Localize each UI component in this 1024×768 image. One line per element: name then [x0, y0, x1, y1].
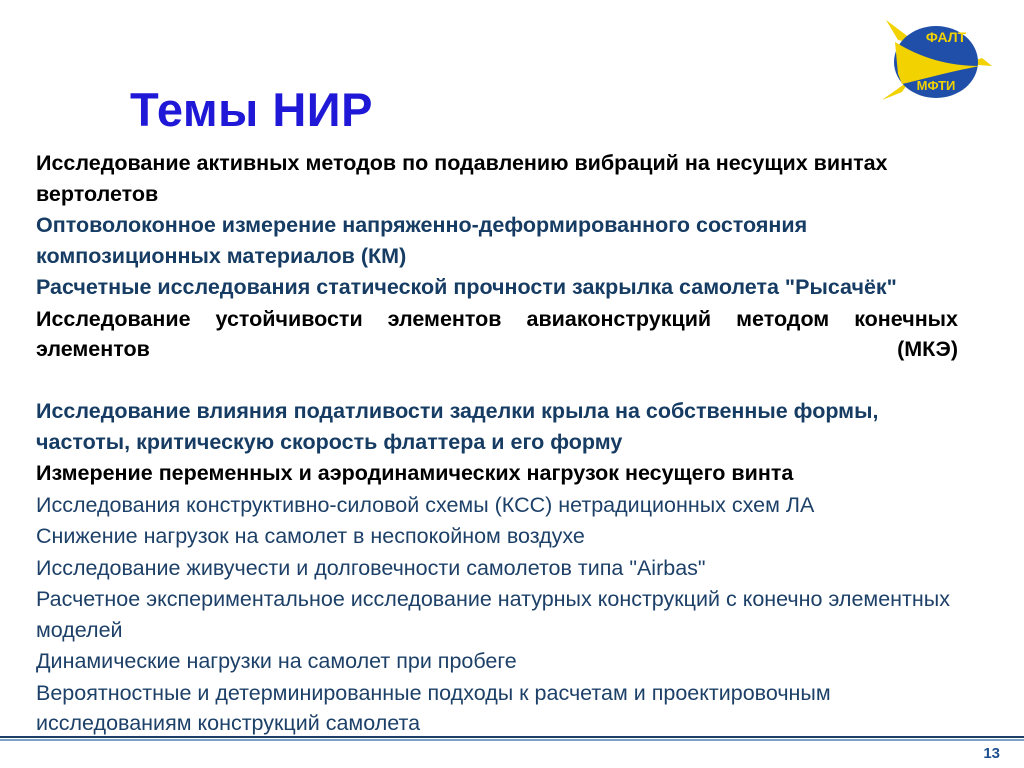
page-title: Темы НИР [130, 83, 373, 137]
topic-item: Измерение переменных и аэродинамических … [36, 458, 958, 489]
topic-list: Исследование активных методов по подавле… [36, 148, 958, 740]
slide: ФАЛТ МФТИ Темы НИР Исследование активных… [0, 0, 1024, 768]
topic-item: Исследование живучести и долговечности с… [36, 553, 958, 584]
page-number: 13 [983, 745, 1000, 762]
topic-item: Исследование устойчивости элементов авиа… [36, 304, 958, 396]
topic-item: Динамические нагрузки на самолет при про… [36, 646, 958, 677]
topic-item: Вероятностные и детерминированные подход… [36, 678, 958, 739]
topic-item: Исследование активных методов по подавле… [36, 148, 958, 209]
topic-item: Оптоволоконное измерение напряженно-дефо… [36, 210, 958, 271]
logo-bottom-text: МФТИ [917, 78, 956, 93]
footer-divider [0, 736, 1024, 741]
topic-item: Снижение нагрузок на самолет в неспокойн… [36, 521, 958, 552]
footer-divider-dark-line [0, 736, 1024, 738]
topic-item: Исследования конструктивно-силовой схемы… [36, 490, 958, 521]
topic-item: Расчетные исследования статической прочн… [36, 272, 958, 303]
logo-top-text: ФАЛТ [926, 29, 967, 45]
falt-mipt-logo: ФАЛТ МФТИ [876, 14, 996, 114]
topic-item: Расчетное экспериментальное исследование… [36, 584, 958, 645]
footer-divider-light-line [0, 739, 1024, 741]
topic-item: Исследование влияния податливости заделк… [36, 396, 958, 457]
